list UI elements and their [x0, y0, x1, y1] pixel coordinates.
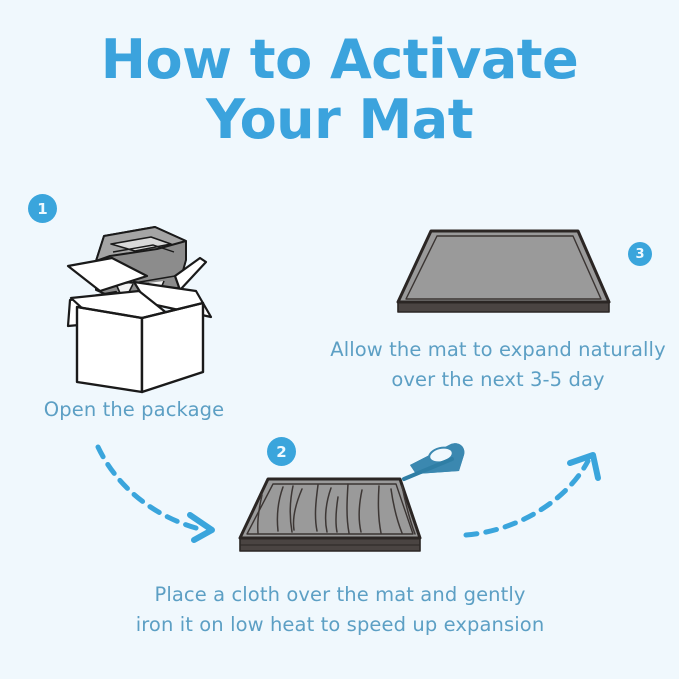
step-2-caption-line-2: iron it on low heat to speed up expansio…	[105, 610, 575, 640]
step-badge-2-number: 2	[276, 443, 286, 461]
box-face-front	[77, 307, 142, 392]
step-badge-2: 2	[267, 437, 296, 466]
step-badge-3-number: 3	[635, 247, 644, 262]
step-3-caption-line-2: over the next 3-5 day	[318, 365, 678, 395]
mat3-top-surface	[398, 231, 609, 302]
infographic-canvas: How to Activate Your Mat	[0, 0, 679, 679]
step-1-illustration	[68, 227, 211, 392]
step-badge-3: 3	[628, 242, 652, 266]
step-2-caption-line-1: Place a cloth over the mat and gently	[105, 580, 575, 610]
arrow-step1-to-step2	[98, 447, 212, 540]
step-1-caption-line-1: Open the package	[44, 398, 224, 421]
iron-icon	[404, 443, 464, 479]
mat2-top-surface	[240, 479, 420, 538]
step-3-caption: Allow the mat to expand naturally over t…	[318, 335, 678, 395]
step-badge-1: 1	[28, 194, 57, 223]
step-3-caption-line-1: Allow the mat to expand naturally	[318, 335, 678, 365]
step-3-illustration	[398, 231, 609, 312]
step-badge-1-number: 1	[37, 200, 47, 218]
step-2-caption: Place a cloth over the mat and gently ir…	[105, 580, 575, 640]
arrow-step2-to-step3	[466, 455, 598, 535]
step-1-caption: Open the package	[0, 395, 268, 425]
